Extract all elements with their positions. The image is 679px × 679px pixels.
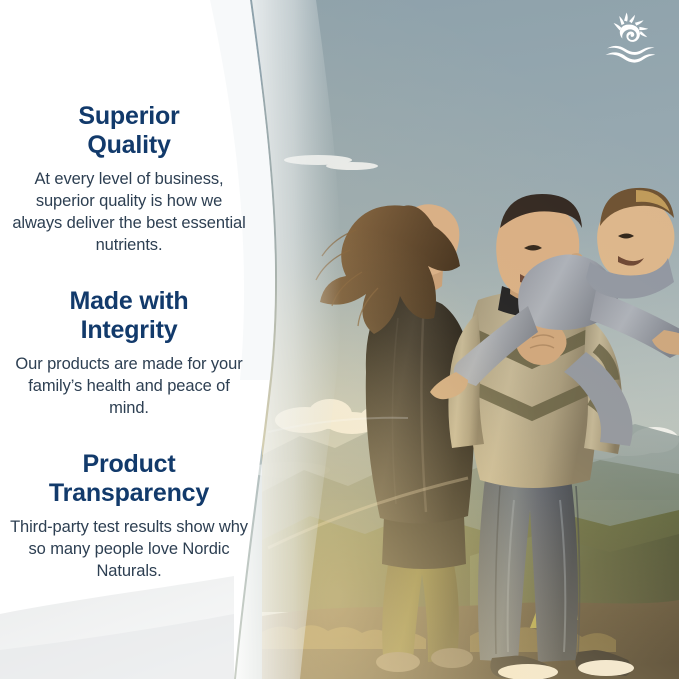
value-heading-line1: Made with — [69, 287, 188, 315]
value-block-made-with-integrity: Made with Integrity Our products are mad… — [10, 287, 248, 420]
value-props-column: Superior Quality At every level of busin… — [0, 0, 258, 679]
value-heading: Superior Quality — [10, 102, 248, 160]
value-body: Our products are made for your family’s … — [10, 354, 248, 420]
promo-banner: Superior Quality At every level of busin… — [0, 0, 679, 679]
value-heading-line2: Transparency — [49, 479, 209, 507]
sun-over-waves-icon — [606, 13, 656, 63]
brand-logo — [599, 10, 665, 66]
value-heading-line2: Quality — [87, 131, 170, 159]
value-body: At every level of business, superior qua… — [10, 169, 248, 257]
value-block-product-transparency: Product Transparency Third-party test re… — [10, 450, 248, 583]
value-heading-line1: Product — [82, 450, 175, 478]
value-body: Third-party test results show why so man… — [10, 517, 248, 583]
value-heading-line1: Superior — [78, 102, 179, 130]
value-block-superior-quality: Superior Quality At every level of busin… — [10, 102, 248, 257]
value-heading: Made with Integrity — [10, 287, 248, 345]
value-heading: Product Transparency — [10, 450, 248, 508]
value-heading-line2: Integrity — [81, 316, 178, 344]
